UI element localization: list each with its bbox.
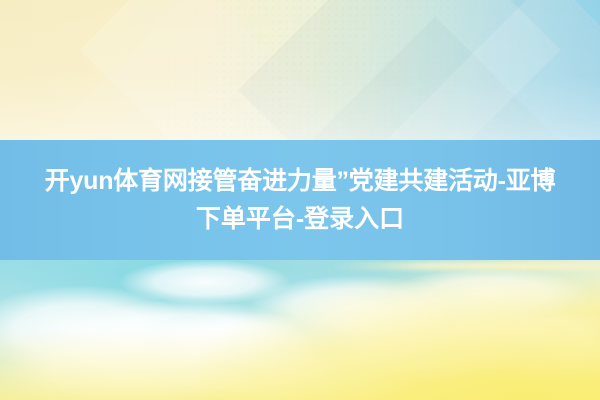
banner-title-line-1: 开yun体育网接管奋进力量”党建共建活动-亚博 (17, 162, 583, 200)
banner-bottom-sky (0, 260, 600, 400)
title-band: 开yun体育网接管奋进力量”党建共建活动-亚博 下单平台-登录入口 (0, 140, 600, 260)
top-light-veil (0, 0, 600, 140)
banner-title-line-2: 下单平台-登录入口 (17, 200, 583, 238)
banner-title: 开yun体育网接管奋进力量”党建共建活动-亚博 下单平台-登录入口 (17, 162, 583, 238)
sky-highlight-streak (330, 262, 600, 270)
promo-banner: 开yun体育网接管奋进力量”党建共建活动-亚博 下单平台-登录入口 (0, 0, 600, 400)
banner-top-gradient (0, 0, 600, 140)
sky-yellow-floor (0, 330, 600, 400)
